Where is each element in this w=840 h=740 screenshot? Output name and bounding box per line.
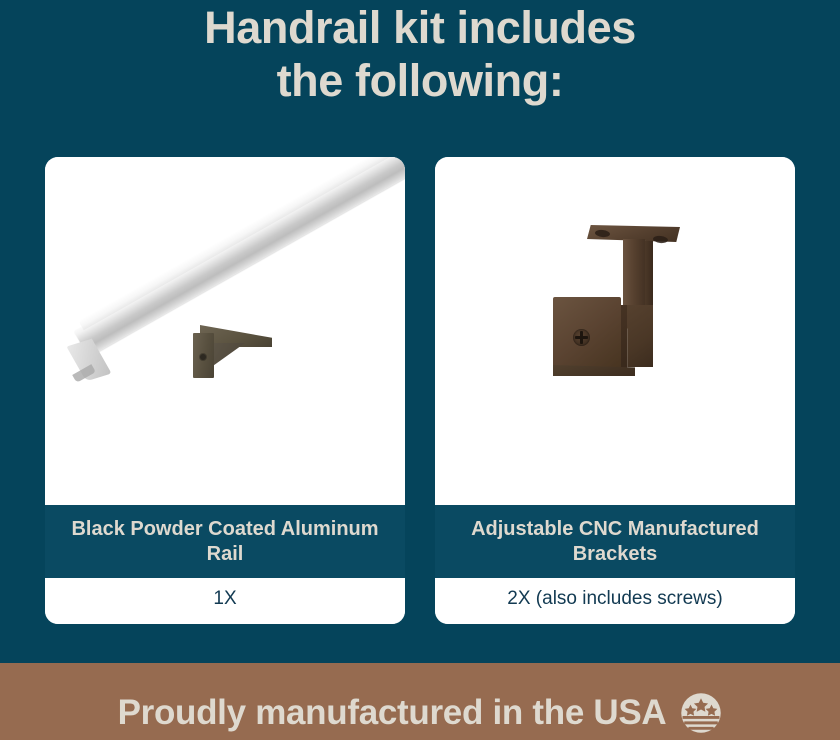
handrail-end-cap-edge bbox=[72, 364, 96, 383]
product-card-rail[interactable]: Black Powder Coated Aluminum Rail 1X bbox=[45, 157, 405, 624]
product-quantity-rail: 1X bbox=[45, 578, 405, 624]
usa-stars-stripes-badge-icon bbox=[680, 692, 722, 734]
handrail-body-shape bbox=[74, 157, 405, 357]
product-image-brackets bbox=[435, 157, 795, 505]
page-title-line-2: the following: bbox=[0, 55, 840, 108]
product-card-brackets[interactable]: Adjustable CNC Manufactured Brackets 2X … bbox=[435, 157, 795, 624]
bracket-post-side-face bbox=[645, 241, 653, 311]
product-card-list: Black Powder Coated Aluminum Rail 1X Adj… bbox=[45, 157, 795, 624]
handrail-illustration bbox=[45, 157, 405, 505]
page-title: Handrail kit includes the following: bbox=[0, 0, 840, 107]
bracket-illustration bbox=[435, 157, 795, 505]
product-image-rail bbox=[45, 157, 405, 505]
made-in-usa-banner: Proudly manufactured in the USA bbox=[0, 663, 840, 740]
made-in-usa-text: Proudly manufactured in the USA bbox=[118, 693, 667, 733]
product-quantity-brackets: 2X (also includes screws) bbox=[435, 578, 795, 624]
product-caption-brackets: Adjustable CNC Manufactured Brackets bbox=[435, 505, 795, 578]
product-caption-rail: Black Powder Coated Aluminum Rail bbox=[45, 505, 405, 578]
page-title-line-1: Handrail kit includes bbox=[0, 2, 840, 55]
bracket-screw-hole-right bbox=[653, 235, 669, 244]
bracket-phillips-screw-icon bbox=[573, 329, 590, 346]
bracket-vertical-post bbox=[623, 239, 645, 309]
rail-bracket-screw-icon bbox=[200, 354, 206, 360]
